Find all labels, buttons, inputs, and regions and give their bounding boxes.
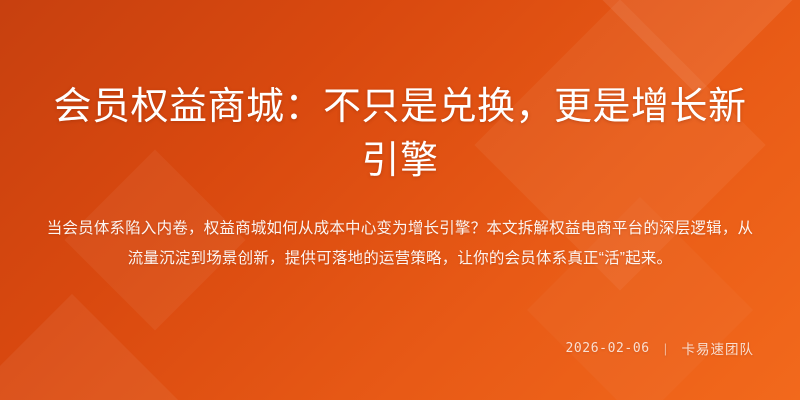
author-name: 卡易速团队	[682, 338, 755, 358]
publish-date: 2026-02-06	[565, 341, 649, 356]
cover-meta: 2026-02-06 | 卡易速团队	[46, 338, 754, 358]
cover-subtitle: 当会员体系陷入内卷，权益商城如何从成本中心变为增长引擎？本文拆解权益电商平台的深…	[46, 214, 754, 274]
cover-title: 会员权益商城：不只是兑换，更是增长新引擎	[50, 0, 750, 188]
meta-separator: |	[664, 342, 668, 355]
article-cover-card: 会员权益商城：不只是兑换，更是增长新引擎 当会员体系陷入内卷，权益商城如何从成本…	[0, 0, 800, 400]
cover-content: 会员权益商城：不只是兑换，更是增长新引擎 当会员体系陷入内卷，权益商城如何从成本…	[0, 0, 800, 400]
